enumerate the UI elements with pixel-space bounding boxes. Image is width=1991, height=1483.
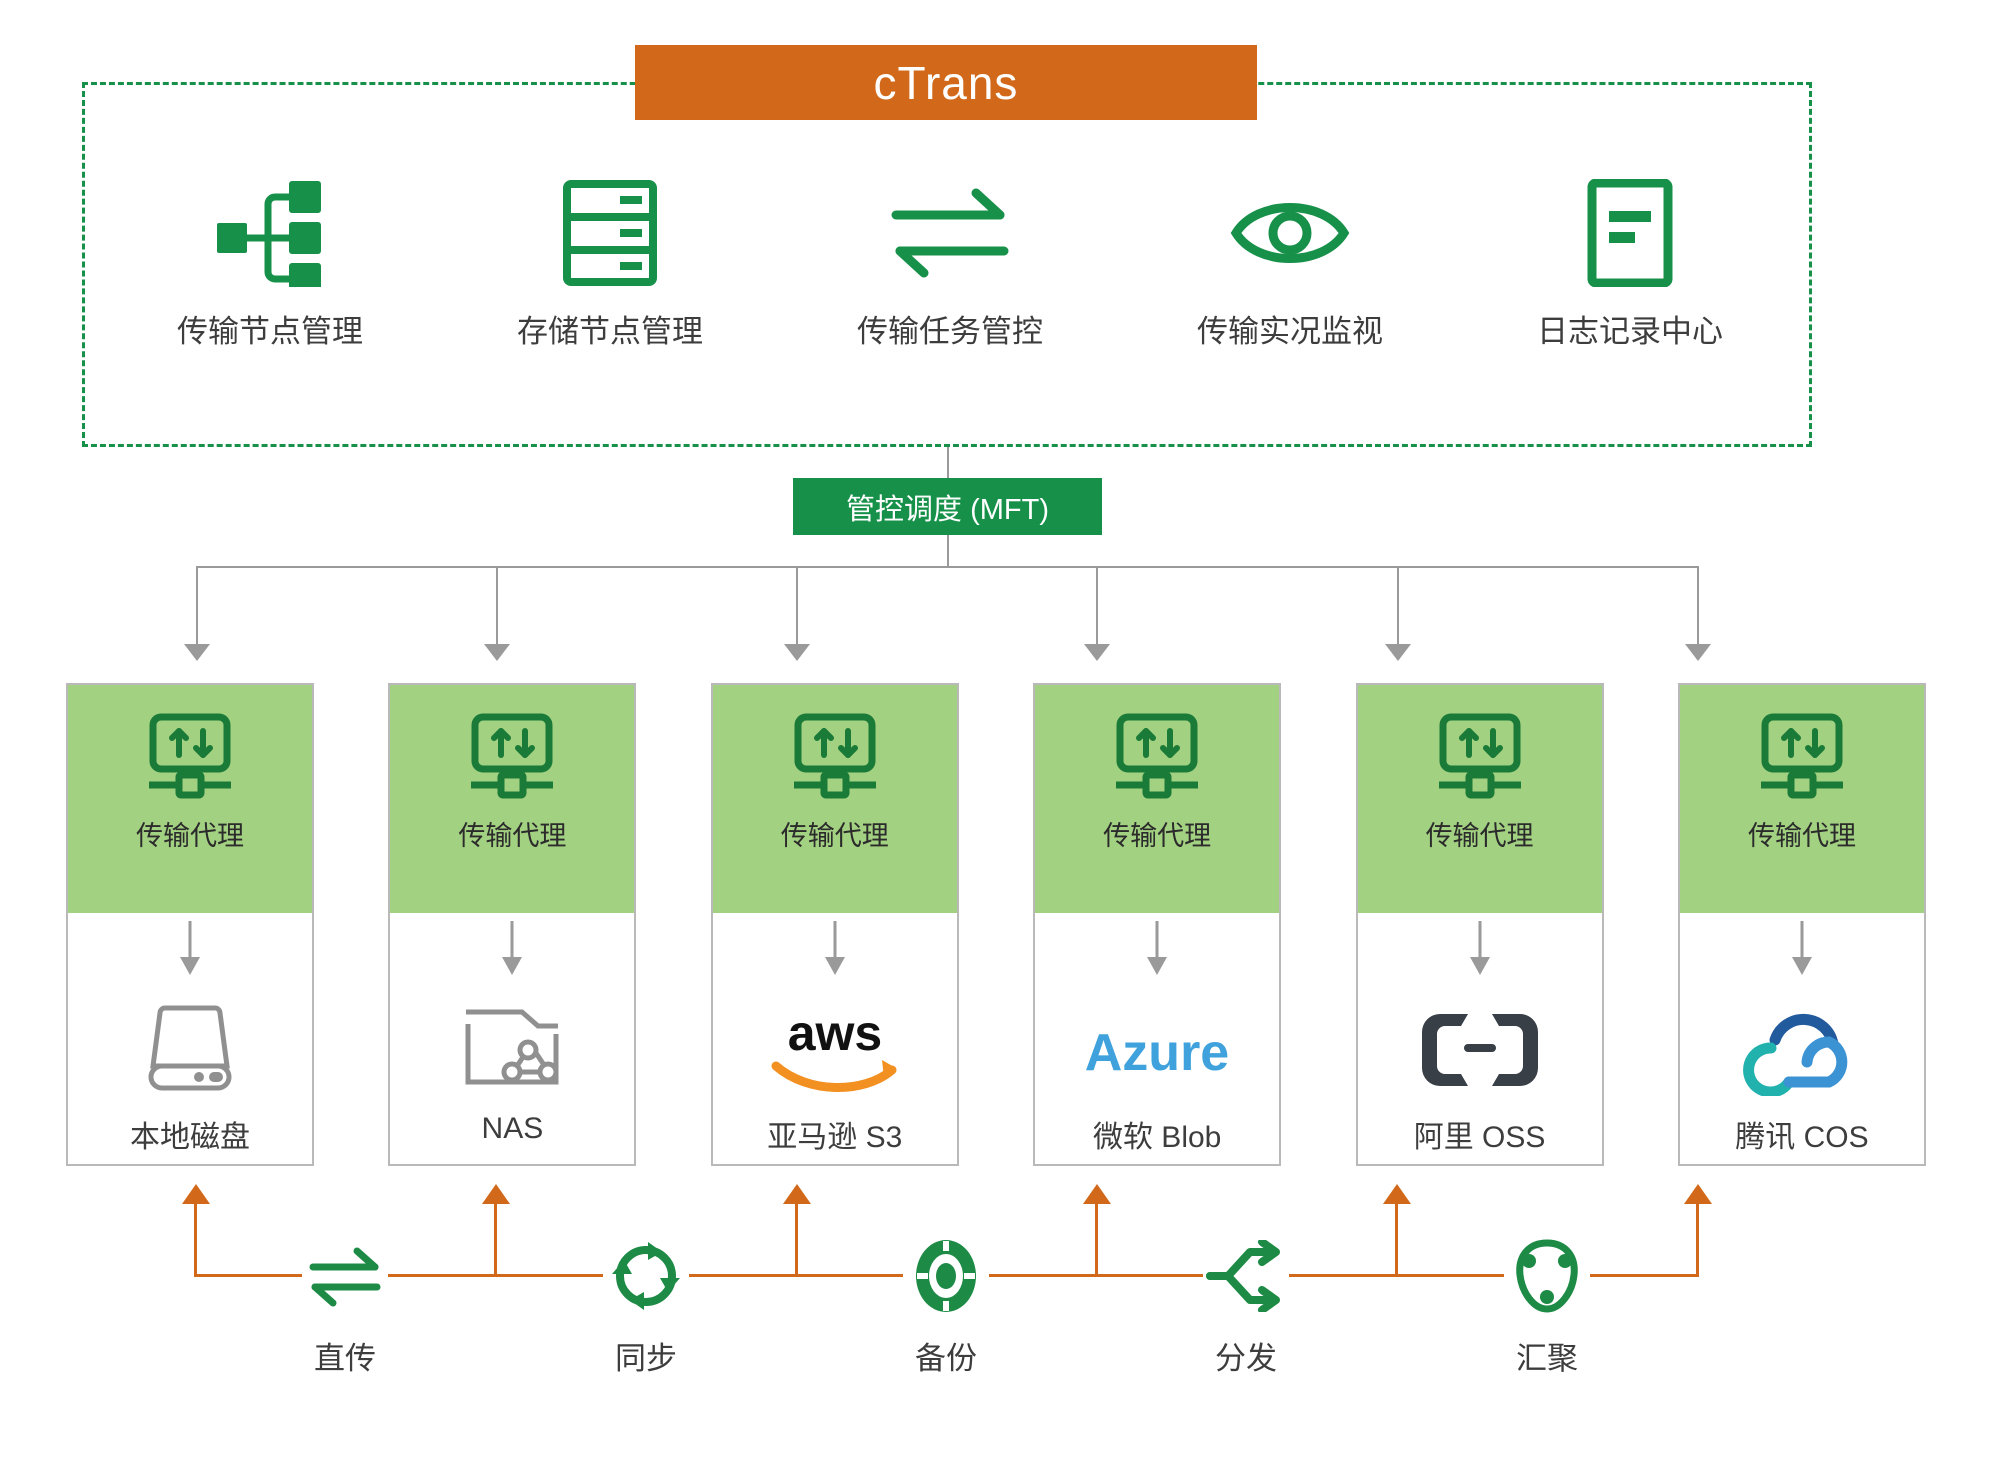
nas-folder-icon	[460, 988, 564, 1096]
bus-arrow-up-5	[1383, 1184, 1411, 1204]
column-aws-s3[interactable]: 传输代理 aws 亚马逊 S3	[711, 683, 959, 1166]
column-nas[interactable]: 传输代理 NA	[388, 683, 636, 1166]
storage-block: 本地磁盘	[68, 913, 312, 1164]
bus-arrow-up-6	[1684, 1184, 1712, 1204]
connector-mft-down	[947, 535, 949, 566]
mode-label: 汇聚	[1516, 1333, 1578, 1378]
mode-item-direct[interactable]: 直传	[302, 1233, 388, 1378]
mode-item-aggregate[interactable]: 汇聚	[1504, 1233, 1590, 1378]
arrow-agent-to-storage	[822, 921, 848, 982]
agent-block: 传输代理	[713, 685, 957, 913]
connector-panel-to-mft	[947, 447, 949, 478]
bus-arrow-up-3	[783, 1184, 811, 1204]
feature-item-transfer-node-mgmt[interactable]: 传输节点管理	[120, 175, 420, 351]
sitemap-icon	[215, 175, 325, 290]
storage-block: aws 亚马逊 S3	[713, 913, 957, 1164]
arrow-down-5	[1385, 644, 1411, 661]
scheduler-label: 管控调度 (MFT)	[846, 486, 1049, 528]
connector-fanout-bus	[197, 566, 1698, 568]
network-transfer-icon	[788, 713, 882, 804]
agent-label: 传输代理	[1426, 814, 1534, 853]
bus-riser-6	[1696, 1204, 1699, 1276]
agent-block: 传输代理	[1680, 685, 1924, 913]
arrow-down-3	[784, 644, 810, 661]
agent-block: 传输代理	[68, 685, 312, 913]
mode-item-distribute[interactable]: 分发	[1203, 1233, 1289, 1378]
connector-drop-6	[1697, 566, 1699, 644]
bus-arrow-up-2	[482, 1184, 510, 1204]
connector-drop-4	[1096, 566, 1098, 644]
feature-label: 传输实况监视	[1197, 306, 1383, 351]
feature-item-log-center[interactable]: 日志记录中心	[1480, 175, 1780, 351]
arrow-down-1	[184, 644, 210, 661]
agent-label: 传输代理	[1748, 814, 1856, 853]
arrow-agent-to-storage	[177, 921, 203, 982]
feature-item-live-monitor[interactable]: 传输实况监视	[1140, 175, 1440, 351]
sync-circle-icon	[603, 1233, 689, 1319]
mode-item-sync[interactable]: 同步	[603, 1233, 689, 1378]
network-transfer-icon	[143, 713, 237, 804]
mode-label: 直传	[314, 1333, 376, 1378]
arrow-down-6	[1685, 644, 1711, 661]
svg-text:aws: aws	[788, 1005, 883, 1061]
svg-text:Azure: Azure	[1085, 1024, 1229, 1082]
storage-label: 腾讯 COS	[1735, 1112, 1868, 1156]
feature-label: 日志记录中心	[1537, 306, 1723, 351]
feature-list: 传输节点管理 存储节点管理	[120, 175, 1780, 390]
bus-arrow-up-4	[1083, 1184, 1111, 1204]
exchange-arrows-icon	[888, 175, 1012, 290]
connector-drop-3	[796, 566, 798, 644]
scheduler-box[interactable]: 管控调度 (MFT)	[793, 478, 1102, 535]
page-title: cTrans	[874, 56, 1019, 110]
agent-block: 传输代理	[1035, 685, 1279, 913]
hard-disk-icon	[141, 988, 239, 1096]
alibaba-cloud-logo	[1418, 988, 1542, 1096]
agent-block: 传输代理	[390, 685, 634, 913]
network-transfer-icon	[1755, 713, 1849, 804]
feature-item-task-control[interactable]: 传输任务管控	[800, 175, 1100, 351]
document-log-icon	[1587, 175, 1673, 290]
distribute-branch-icon	[1203, 1233, 1289, 1319]
column-tencent-cos[interactable]: 传输代理 腾讯 COS	[1678, 683, 1926, 1166]
column-alibaba-oss[interactable]: 传输代理 阿里 OSS	[1356, 683, 1604, 1166]
arrow-down-2	[484, 644, 510, 661]
storage-label: 阿里 OSS	[1414, 1112, 1546, 1156]
network-transfer-icon	[465, 713, 559, 804]
storage-block: Azure 微软 Blob	[1035, 913, 1279, 1164]
feature-item-storage-node-mgmt[interactable]: 存储节点管理	[460, 175, 760, 351]
bus-riser-4	[1095, 1204, 1098, 1276]
feature-label: 传输任务管控	[857, 306, 1043, 351]
feature-label: 存储节点管理	[517, 306, 703, 351]
agent-label: 传输代理	[458, 814, 566, 853]
storage-label: 微软 Blob	[1093, 1112, 1221, 1156]
mode-label: 备份	[915, 1333, 977, 1378]
eye-icon	[1227, 175, 1353, 290]
storage-label: NAS	[482, 1112, 544, 1146]
bus-riser-3	[795, 1204, 798, 1276]
feature-label: 传输节点管理	[177, 306, 363, 351]
mode-label: 分发	[1215, 1333, 1277, 1378]
connector-drop-2	[496, 566, 498, 644]
column-local-disk[interactable]: 传输代理 本地磁盘	[66, 683, 314, 1166]
storage-block: 腾讯 COS	[1680, 913, 1924, 1164]
agent-block: 传输代理	[1358, 685, 1602, 913]
network-transfer-icon	[1433, 713, 1527, 804]
aws-logo: aws	[760, 988, 910, 1096]
arrow-down-4	[1084, 644, 1110, 661]
network-transfer-icon	[1110, 713, 1204, 804]
connector-drop-1	[196, 566, 198, 644]
agent-label: 传输代理	[136, 814, 244, 853]
storage-label: 本地磁盘	[130, 1112, 250, 1156]
storage-block: 阿里 OSS	[1358, 913, 1602, 1164]
arrow-agent-to-storage	[1789, 921, 1815, 982]
bus-riser-2	[494, 1204, 497, 1276]
bus-riser-1	[194, 1204, 197, 1276]
column-azure-blob[interactable]: 传输代理 Azure 微软 Blob	[1033, 683, 1281, 1166]
arrow-agent-to-storage	[1467, 921, 1493, 982]
aggregate-nodes-icon	[1504, 1233, 1590, 1319]
agent-label: 传输代理	[781, 814, 889, 853]
connector-drop-5	[1397, 566, 1399, 644]
tencent-cloud-logo	[1737, 988, 1867, 1096]
bus-arrow-up-1	[182, 1184, 210, 1204]
storage-label: 亚马逊 S3	[767, 1112, 902, 1156]
agent-storage-columns: 传输代理 本地磁盘	[66, 683, 1926, 1166]
agent-label: 传输代理	[1103, 814, 1211, 853]
mode-label: 同步	[615, 1333, 677, 1378]
arrow-agent-to-storage	[1144, 921, 1170, 982]
bus-riser-5	[1395, 1204, 1398, 1276]
exchange-arrows-icon	[302, 1233, 388, 1319]
server-rack-icon	[562, 175, 658, 290]
mode-item-backup[interactable]: 备份	[903, 1233, 989, 1378]
storage-block: NAS	[390, 913, 634, 1164]
lifebuoy-backup-icon	[903, 1233, 989, 1319]
app-title-bar: cTrans	[635, 45, 1257, 120]
arrow-agent-to-storage	[499, 921, 525, 982]
azure-logo: Azure	[1072, 988, 1242, 1096]
